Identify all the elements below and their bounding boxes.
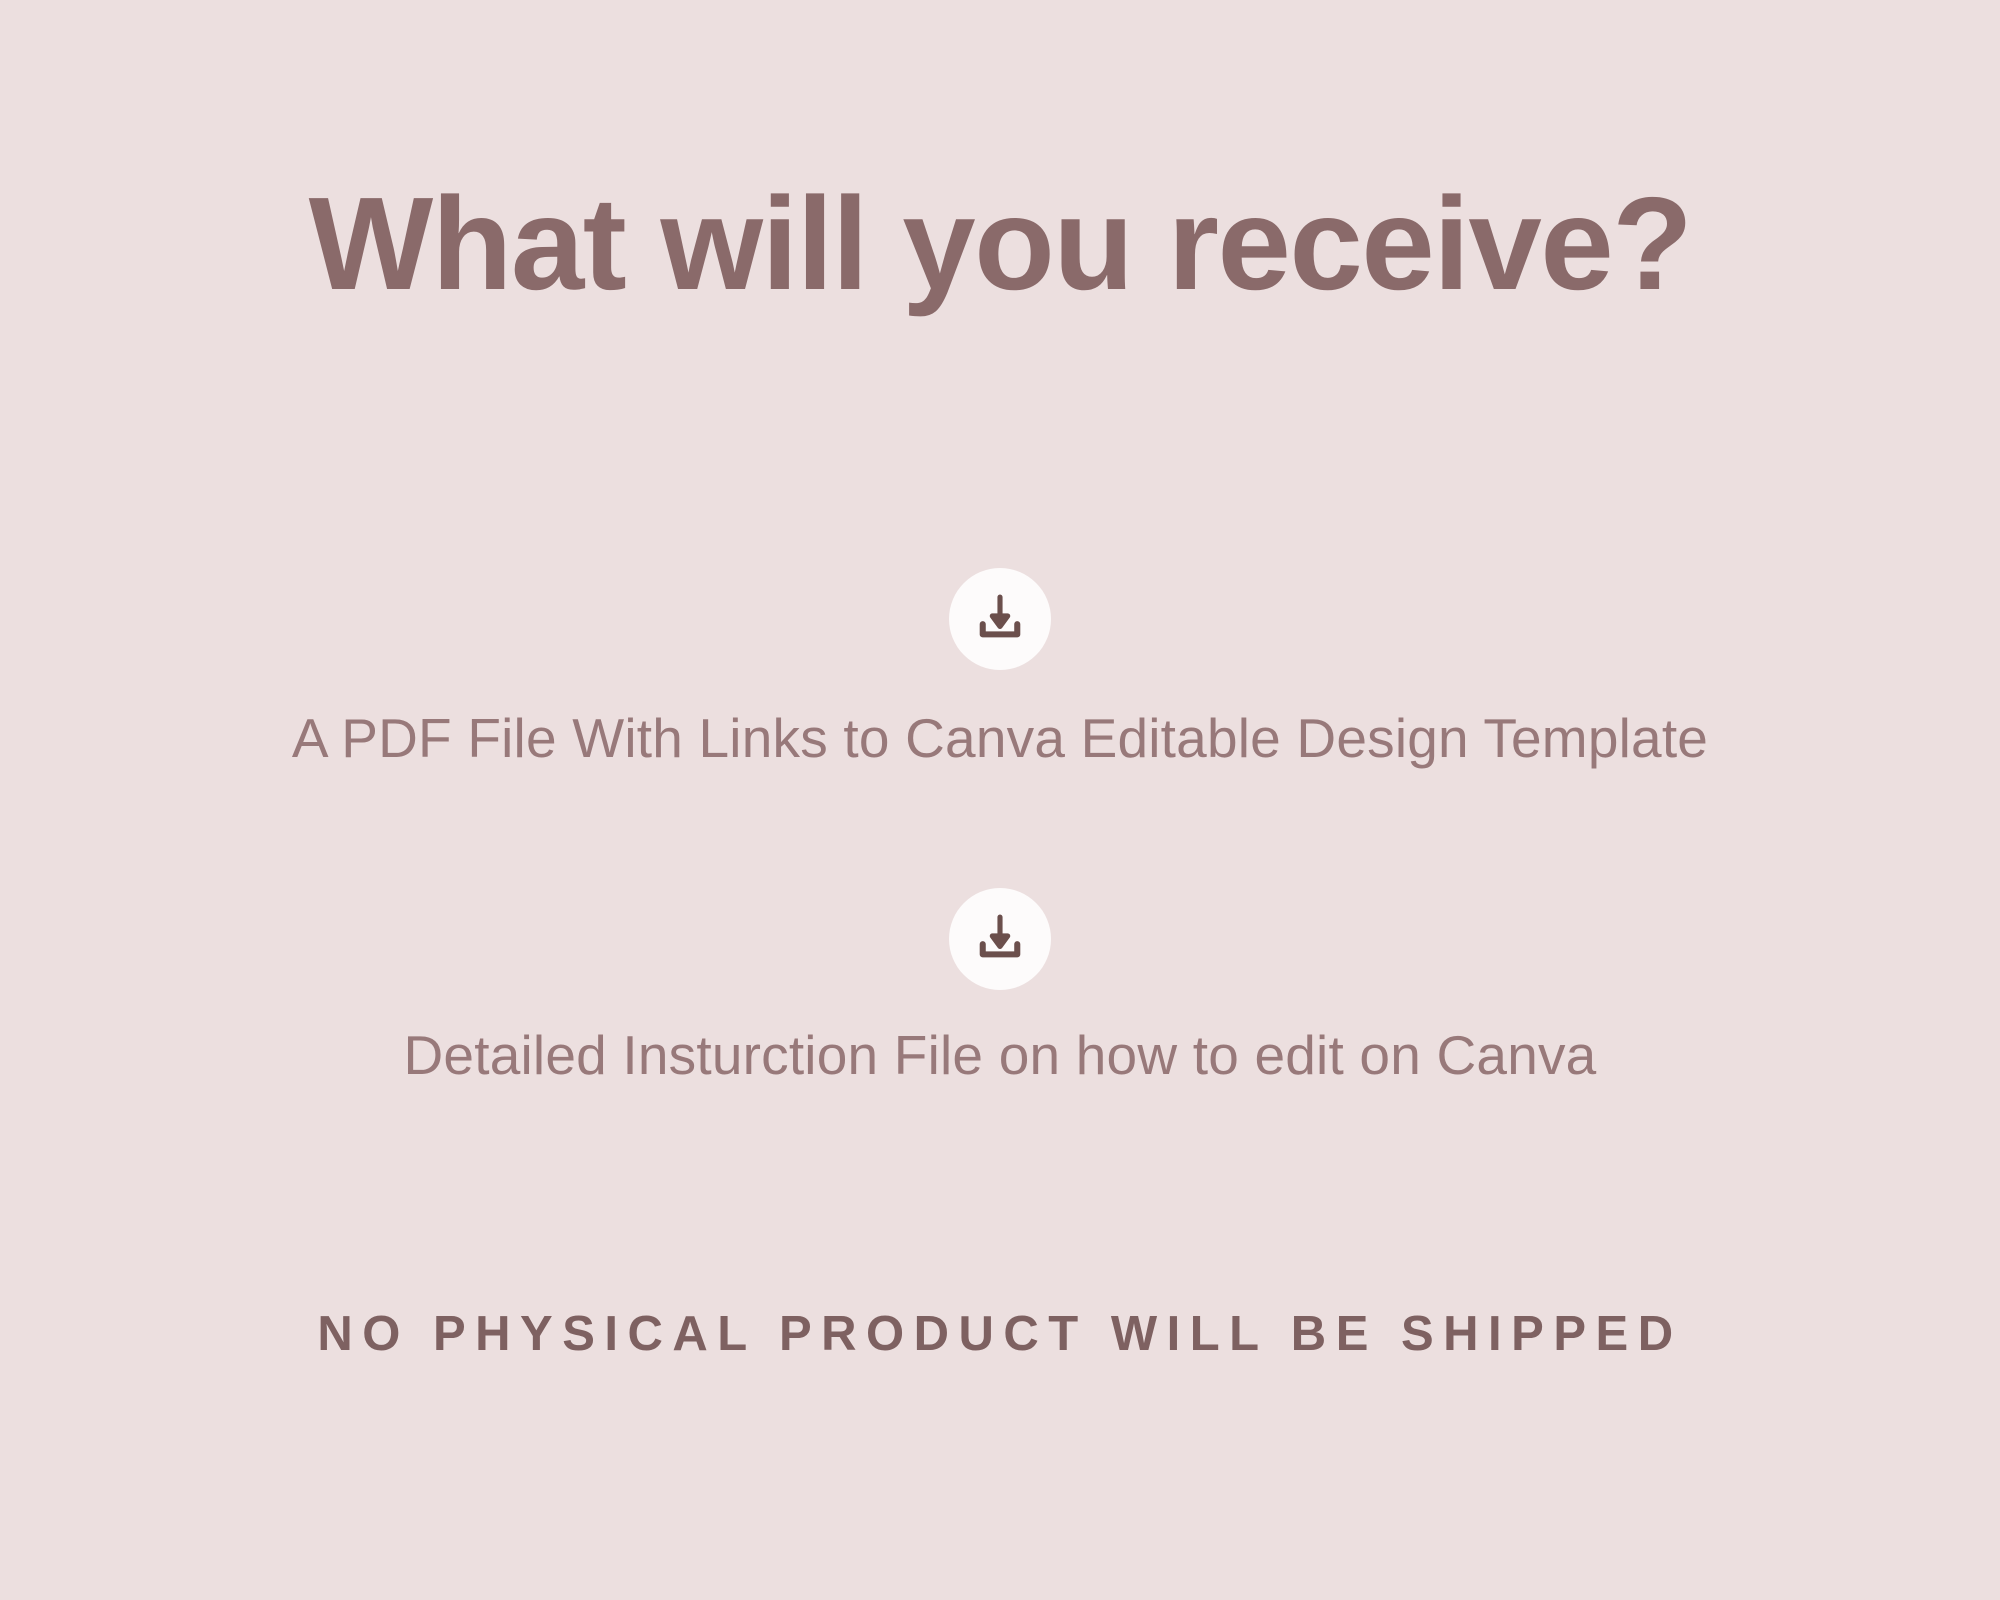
- feature-label-1: A PDF File With Links to Canva Editable …: [0, 705, 2000, 771]
- feature-icon-row-2: [0, 888, 2000, 990]
- download-icon-badge-2: [949, 888, 1051, 990]
- page-title: What will you receive?: [0, 178, 2000, 310]
- feature-icon-row-1: [0, 568, 2000, 670]
- download-icon-badge-1: [949, 568, 1051, 670]
- shipping-disclaimer: NO PHYSICAL PRODUCT WILL BE SHIPPED: [0, 1305, 2000, 1364]
- download-icon: [972, 591, 1028, 647]
- slide-canvas: What will you receive? A PDF File With L…: [0, 0, 2000, 1600]
- feature-label-2: Detailed Insturction File on how to edit…: [0, 1022, 2000, 1088]
- download-icon: [972, 911, 1028, 967]
